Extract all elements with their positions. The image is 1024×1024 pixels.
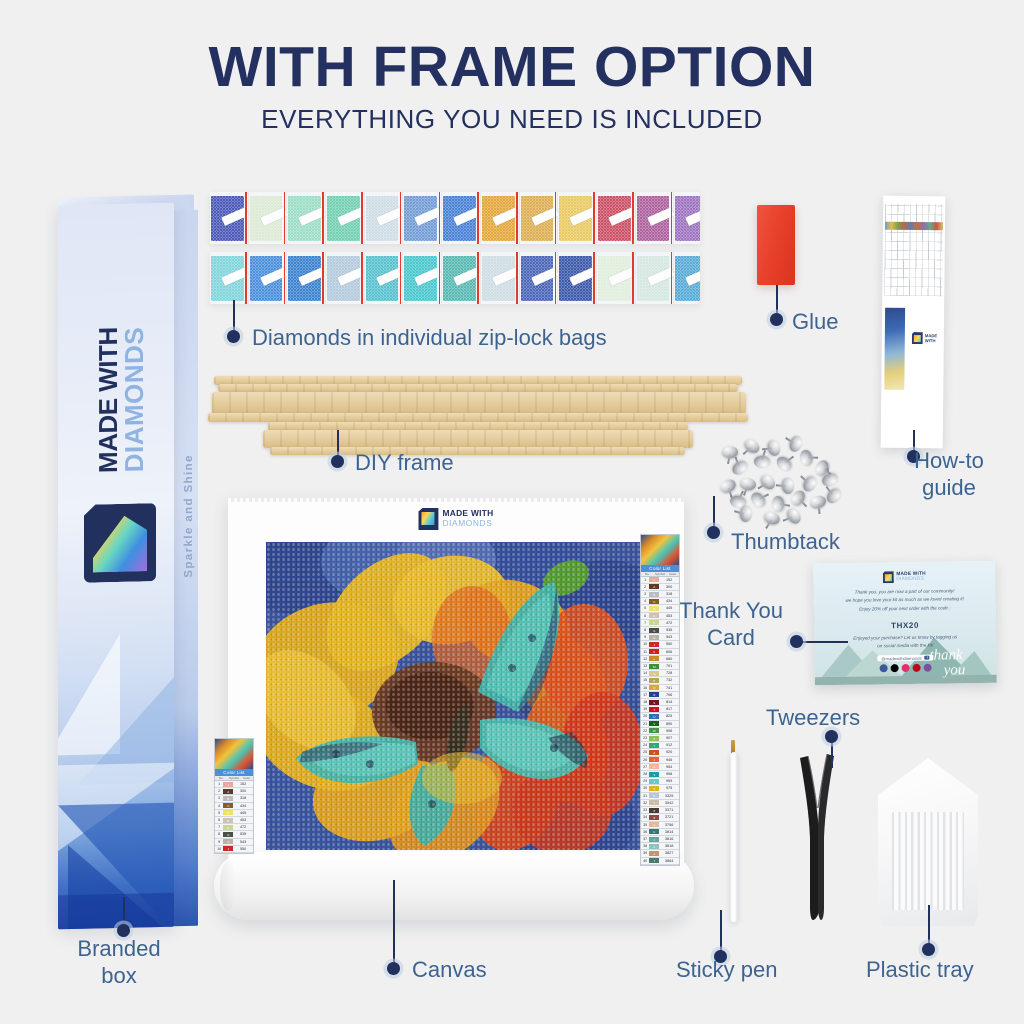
color-row-code: 959 (659, 778, 679, 785)
color-list-title-left: Color List (215, 769, 253, 776)
color-list-row: 3273042 (641, 799, 679, 806)
color-row-code: 472 (233, 824, 253, 831)
color-list-row: 3B318 (215, 795, 253, 802)
color-row-swatch: B (649, 591, 659, 598)
color-list-row: 7F472 (641, 619, 679, 626)
color-row-swatch: 9 (649, 814, 659, 821)
color-list-title-right: Color List (641, 565, 679, 572)
color-row-swatch: Y (649, 742, 659, 749)
color-row-swatch: Q (649, 684, 659, 691)
thumbtack (739, 506, 752, 523)
color-list-row: 3B318 (641, 591, 679, 598)
color-row-code: 954 (659, 763, 679, 770)
card-logo: MADE WITH DIAMONDS (883, 571, 926, 584)
thumbtack (824, 486, 844, 506)
color-list-row: 37c3816 (641, 835, 679, 842)
color-row-number: 23 (641, 735, 649, 742)
ziplock-bag (403, 252, 441, 304)
diy-frame (208, 374, 748, 458)
color-list-row: 19T817 (641, 706, 679, 713)
thumbtack (730, 459, 750, 478)
thumbtack (766, 439, 782, 458)
ziplock-bag (287, 252, 325, 304)
col-symbol: Symbol (654, 572, 667, 576)
color-row-number: 6 (641, 612, 649, 619)
thumbtack (739, 477, 757, 492)
color-row-code: 434 (233, 802, 253, 809)
color-row-swatch: P (649, 677, 659, 684)
color-row-code: 300 (659, 583, 679, 590)
callout-canvas: Canvas (412, 957, 487, 984)
color-row-code: 300 (233, 788, 253, 795)
ziplock-bag (365, 192, 403, 244)
color-row-code: 453 (659, 612, 679, 619)
page-title: WITH FRAME OPTION (0, 34, 1024, 100)
color-row-swatch: 5 (649, 785, 659, 792)
color-list-row: 305975 (641, 785, 679, 792)
color-row-code: 472 (659, 619, 679, 626)
thumbtack (718, 477, 738, 495)
artwork-illustration (266, 542, 646, 850)
plastic-tray (878, 758, 978, 926)
color-row-number: 5 (215, 809, 223, 816)
bag-zip-seal (400, 252, 402, 304)
leader-box (123, 897, 125, 925)
thumbtack (754, 455, 771, 468)
color-row-swatch: a (649, 821, 659, 828)
color-row-number: 8 (641, 627, 649, 634)
bag-zip-seal (516, 252, 518, 304)
thumbtack (742, 436, 762, 455)
color-row-swatch: A (223, 788, 233, 795)
color-list-row: 21V890 (641, 720, 679, 727)
ziplock-bag (249, 192, 287, 244)
color-row-swatch: S (649, 699, 659, 706)
thumbtack (801, 474, 820, 494)
ziplock-bag-row-top (210, 192, 700, 244)
ziplock-bag (636, 252, 674, 304)
color-row-swatch: D (223, 809, 233, 816)
card-logo-line-2: DIAMONDS (896, 577, 926, 583)
color-row-swatch: H (649, 634, 659, 641)
card-body-line-3: Enjoy 20% off your next order with the c… (814, 604, 996, 615)
leader-bags (233, 300, 235, 330)
color-list-row: 1x152 (641, 577, 679, 584)
color-row-number: 15 (641, 677, 649, 684)
canvas-logo: MADE WITH DIAMONDS (418, 508, 493, 530)
card-logo-icon (883, 571, 894, 583)
color-row-swatch: A (649, 583, 659, 590)
color-row-swatch: 6 (649, 792, 659, 799)
color-list-row: 17R796 (641, 691, 679, 698)
color-row-swatch: 8 (649, 807, 659, 814)
color-list-row: 36b3814 (641, 828, 679, 835)
color-list-thumbnail-left (215, 739, 253, 769)
color-row-swatch: 2 (649, 763, 659, 770)
color-row-swatch: N (649, 670, 659, 677)
color-row-code: 912 (659, 742, 679, 749)
canvas-logo-icon (418, 508, 438, 530)
box-tagline: Sparkle and Shine (183, 436, 195, 596)
color-row-code: 975 (659, 785, 679, 792)
bag-zip-seal (361, 192, 363, 244)
callout-tray: Plastic tray (866, 957, 974, 984)
thank-you-card: MADE WITH DIAMONDS Thank you, you are no… (813, 561, 997, 686)
leader-canvas (393, 880, 395, 965)
dot-frame (331, 455, 344, 468)
thumbtack (809, 494, 828, 510)
color-row-swatch: C (223, 802, 233, 809)
ziplock-bag (442, 192, 480, 244)
color-row-number: 14 (641, 670, 649, 677)
bag-zip-seal (593, 252, 595, 304)
bag-zip-seal (400, 192, 402, 244)
thumbtack (781, 477, 795, 494)
color-list-row: 6E453 (215, 816, 253, 823)
bag-zip-seal (284, 192, 286, 244)
color-list-thumbnail (641, 535, 679, 565)
color-list-row: 8G535 (641, 627, 679, 634)
dot-tweezers (825, 730, 838, 743)
color-row-swatch: 1 (649, 756, 659, 763)
color-row-code: 906 (659, 727, 679, 734)
how-to-guide-booklet: MADE WITH (881, 196, 946, 449)
color-row-code: 445 (659, 605, 679, 612)
color-row-code: 701 (659, 663, 679, 670)
color-list-left: Color List No. Symbol Color 1x1522A3003B… (214, 738, 254, 854)
color-row-number: 32 (641, 799, 649, 806)
color-row-number: 2 (641, 583, 649, 590)
ziplock-bag (558, 192, 596, 244)
color-list-row: 15P732 (641, 677, 679, 684)
color-row-code: 318 (233, 795, 253, 802)
color-row-code: 3827 (659, 850, 679, 857)
color-row-code: 550 (659, 641, 679, 648)
leader-frame (337, 430, 339, 456)
card-handle-text: @madewithdiamonds (881, 655, 921, 661)
bag-zip-seal (322, 192, 324, 244)
color-list-row: 8G535 (215, 831, 253, 838)
color-list-row: 4C434 (641, 598, 679, 605)
bag-zip-seal (632, 192, 634, 244)
color-list-row: 5D445 (641, 605, 679, 612)
canvas-roll (214, 852, 694, 920)
color-list-row: 2A300 (641, 583, 679, 590)
color-row-number: 11 (641, 648, 649, 655)
page-subtitle: EVERYTHING YOU NEED IS INCLUDED (0, 104, 1024, 135)
tray-ribs (892, 812, 964, 910)
color-list-right: Color List No. Symbol Color 1x1522A3003B… (640, 534, 680, 866)
col-color-left: Color (240, 776, 253, 780)
color-list-row: 14N728 (641, 670, 679, 677)
color-row-code: 543 (233, 838, 253, 845)
color-row-swatch: E (649, 612, 659, 619)
color-row-number: 27 (641, 763, 649, 770)
color-row-number: 29 (641, 778, 649, 785)
color-row-number: 2 (215, 788, 223, 795)
dot-tray (922, 943, 935, 956)
branded-box: Sparkle and Shine MADE WITH DIAMONDS (52, 196, 202, 936)
social-icon (902, 664, 910, 672)
thumbtack-pile (714, 436, 844, 526)
color-row-swatch: T (649, 706, 659, 713)
bag-zip-seal (439, 192, 441, 244)
color-row-code: 946 (659, 756, 679, 763)
color-list-row: 35a3756 (641, 821, 679, 828)
color-row-number: 13 (641, 663, 649, 670)
color-row-swatch: C (649, 598, 659, 605)
diamond-logo-icon (84, 503, 156, 583)
dot-thankyou (790, 635, 803, 648)
color-row-swatch: x (223, 781, 233, 788)
ziplock-bag (558, 252, 596, 304)
color-list-row: 38d3818 (641, 843, 679, 850)
callout-thankyou: Thank You Card (676, 598, 786, 652)
color-list-table-left: 1x1522A3003B3184C4345D4456E4537F4728G535… (215, 781, 253, 853)
ziplock-bag (210, 192, 248, 244)
leader-thankyou (802, 641, 848, 643)
color-row-swatch: 4 (649, 778, 659, 785)
color-row-number: 4 (215, 802, 223, 809)
color-row-number: 4 (641, 598, 649, 605)
color-list-row: 13M701 (641, 663, 679, 670)
color-row-code: 728 (659, 670, 679, 677)
guide-color-chart (884, 204, 943, 297)
color-list-row: 272954 (641, 763, 679, 770)
color-row-code: 920 (659, 749, 679, 756)
color-row-number: 7 (215, 824, 223, 831)
brand-line-2: DIAMONDS (121, 274, 147, 525)
color-row-number: 30 (641, 785, 649, 792)
thumbtack (748, 490, 767, 510)
ziplock-bag (326, 252, 364, 304)
leader-thumbtack (713, 496, 715, 526)
color-list-row: 2A300 (215, 788, 253, 795)
color-row-swatch: L (649, 655, 659, 662)
color-list-row: 12L680 (641, 655, 679, 662)
leader-glue (776, 285, 778, 313)
color-list-row: 24Y912 (641, 742, 679, 749)
bag-zip-seal (593, 192, 595, 244)
color-list-row: 3493721 (641, 814, 679, 821)
color-row-code: 3721 (659, 814, 679, 821)
color-row-number: 22 (641, 727, 649, 734)
color-row-code: 796 (659, 691, 679, 698)
color-row-swatch: D (649, 605, 659, 612)
color-row-swatch: b (649, 828, 659, 835)
bag-zip-seal (632, 252, 634, 304)
ziplock-bag (520, 192, 558, 244)
color-list-row: 6E453 (641, 612, 679, 619)
color-row-number: 9 (215, 838, 223, 845)
color-row-number: 8 (215, 831, 223, 838)
color-list-row: 18S814 (641, 699, 679, 706)
callout-box: Branded box (44, 936, 194, 990)
thumbtack (774, 454, 794, 474)
color-list-row: 39e3827 (641, 850, 679, 857)
color-row-number: 39 (641, 850, 649, 857)
guide-logo-text: MADE WITH (925, 333, 938, 344)
ziplock-bag (674, 192, 700, 244)
bag-zip-seal (361, 252, 363, 304)
color-row-number: 21 (641, 720, 649, 727)
color-row-code: 606 (659, 648, 679, 655)
color-row-number: 31 (641, 792, 649, 799)
color-row-swatch: 3 (649, 771, 659, 778)
bag-zip-seal (477, 192, 479, 244)
color-row-number: 5 (641, 605, 649, 612)
col-no-left: No. (215, 776, 228, 780)
color-row-swatch: H (223, 838, 233, 845)
color-row-code: 535 (659, 627, 679, 634)
ziplock-bag (481, 252, 519, 304)
color-row-code: 152 (233, 781, 253, 788)
color-row-number: 24 (641, 742, 649, 749)
infographic-root: WITH FRAME OPTION EVERYTHING YOU NEED IS… (0, 0, 1024, 1024)
tweezers (794, 748, 840, 923)
color-list-row: 294959 (641, 778, 679, 785)
color-row-number: 7 (641, 619, 649, 626)
color-row-number: 12 (641, 655, 649, 662)
color-row-number: 35 (641, 821, 649, 828)
social-icon (891, 664, 899, 672)
color-row-swatch: J (223, 845, 233, 852)
color-row-number: 1 (641, 577, 649, 584)
callout-guide: How-to guide (884, 448, 1014, 502)
col-symbol-left: Symbol (228, 776, 241, 780)
color-row-swatch: 7 (649, 799, 659, 806)
color-row-swatch: X (649, 735, 659, 742)
color-list-row: 40f3864 (641, 857, 679, 864)
ziplock-bag (326, 192, 364, 244)
color-row-number: 28 (641, 771, 649, 778)
ziplock-bag (481, 192, 519, 244)
bag-zip-seal (322, 252, 324, 304)
glue-block (757, 205, 795, 285)
color-row-number: 3 (641, 591, 649, 598)
color-row-number: 17 (641, 691, 649, 698)
social-icon (880, 664, 888, 672)
guide-logo-icon: MADE WITH (912, 332, 938, 362)
color-list-row: 9H543 (641, 634, 679, 641)
color-row-swatch: K (649, 648, 659, 655)
color-row-code: 453 (233, 816, 253, 823)
color-list-row: 261946 (641, 756, 679, 763)
color-list-row: 22W906 (641, 727, 679, 734)
color-row-code: 741 (659, 684, 679, 691)
color-row-swatch: M (649, 663, 659, 670)
pen-body (730, 752, 738, 922)
card-handwritten-thankyou: thank you (927, 643, 989, 678)
bag-zip-seal (245, 192, 247, 244)
svg-text:you: you (942, 662, 966, 678)
callout-tweezers: Tweezers (766, 705, 860, 732)
dot-canvas (387, 962, 400, 975)
color-row-number: 38 (641, 843, 649, 850)
bag-zip-seal (477, 252, 479, 304)
ziplock-bag (287, 192, 325, 244)
color-list-row: 283958 (641, 771, 679, 778)
callout-thumbtack: Thumbtack (731, 529, 840, 556)
color-row-code: 732 (659, 677, 679, 684)
color-row-swatch: W (649, 727, 659, 734)
color-row-code: 814 (659, 699, 679, 706)
ziplock-bag-row-bottom (210, 252, 700, 304)
color-list-row: 7F472 (215, 824, 253, 831)
ziplock-bag (403, 192, 441, 244)
color-row-code: 817 (659, 706, 679, 713)
bag-zip-seal (555, 192, 557, 244)
color-row-swatch: U (649, 713, 659, 720)
color-row-number: 26 (641, 756, 649, 763)
color-row-number: 10 (215, 845, 223, 852)
color-row-swatch: f (649, 857, 659, 864)
color-row-code: 3756 (659, 821, 679, 828)
ziplock-bag (636, 192, 674, 244)
guide-swatch-row (885, 222, 943, 231)
col-color: Color (666, 572, 679, 576)
color-row-swatch: G (649, 627, 659, 634)
color-list-row: 5D445 (215, 809, 253, 816)
color-list-row: 25Z920 (641, 749, 679, 756)
box-side-panel: Sparkle and Shine (172, 210, 198, 927)
ziplock-bag (520, 252, 558, 304)
color-row-number: 19 (641, 706, 649, 713)
bag-zip-seal (516, 192, 518, 244)
ziplock-bag (597, 192, 635, 244)
dot-thumbtack (707, 526, 720, 539)
color-row-code: 958 (659, 771, 679, 778)
color-list-row: 20U825 (641, 713, 679, 720)
color-row-swatch: E (223, 816, 233, 823)
bag-zip-seal (439, 252, 441, 304)
color-list-row: 10J550 (215, 845, 253, 852)
color-row-number: 1 (215, 781, 223, 788)
col-no: No. (641, 572, 654, 576)
color-list-row: 1x152 (215, 781, 253, 788)
ziplock-bag (674, 252, 700, 304)
color-row-number: 40 (641, 857, 649, 864)
ziplock-bag (597, 252, 635, 304)
color-row-code: 318 (659, 591, 679, 598)
color-row-number: 9 (641, 634, 649, 641)
color-row-code: 434 (659, 598, 679, 605)
color-row-swatch: G (223, 831, 233, 838)
color-row-number: 6 (215, 816, 223, 823)
guide-cover-photo (884, 308, 905, 390)
thumbtack (799, 449, 814, 467)
dot-bags (227, 330, 240, 343)
color-row-swatch: B (223, 795, 233, 802)
leader-tray (928, 905, 930, 945)
leader-pen (720, 910, 722, 952)
bag-zip-seal (245, 252, 247, 304)
bag-zip-seal (284, 252, 286, 304)
color-row-code: 825 (659, 713, 679, 720)
color-row-number: 3 (215, 795, 223, 802)
color-row-number: 34 (641, 814, 649, 821)
color-row-code: 3814 (659, 828, 679, 835)
color-row-swatch: e (649, 850, 659, 857)
color-row-code: 3371 (659, 807, 679, 814)
color-list-row: 10J550 (641, 641, 679, 648)
color-row-code: 3816 (659, 835, 679, 842)
color-row-code: 890 (659, 720, 679, 727)
thumbtack (772, 496, 784, 512)
ziplock-bag (365, 252, 403, 304)
color-row-number: 16 (641, 684, 649, 691)
color-row-code: 680 (659, 655, 679, 662)
